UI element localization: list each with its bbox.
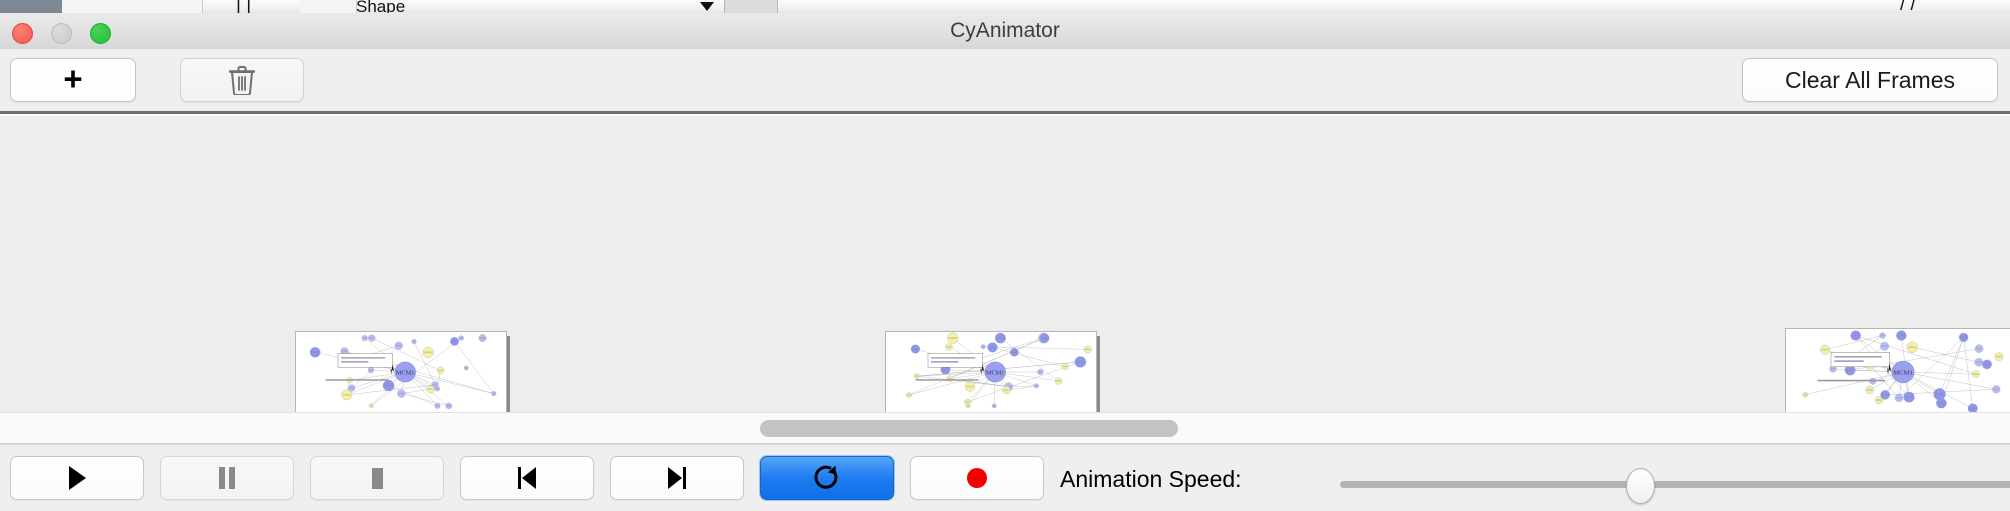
skip-back-button[interactable] <box>460 456 594 500</box>
add-frame-button[interactable]: + <box>10 58 136 102</box>
cyanimator-window: | | Shape / / CyAnimator + Clear All Fra… <box>0 0 2010 510</box>
maximize-button[interactable] <box>90 23 111 44</box>
background-window-glyph: / / <box>1900 0 1916 14</box>
network-thumbnail-graphic: MCM1 <box>1786 329 2010 412</box>
frame-thumbnail-2[interactable]: MCM1 <box>885 331 1095 411</box>
pause-button <box>160 456 294 500</box>
background-window-sidebar <box>0 0 62 13</box>
background-window-segment <box>300 0 357 13</box>
toolbar: + Clear All Frames <box>0 49 2010 111</box>
frame-thumbnail-3[interactable]: MCM1 <box>1785 328 2010 412</box>
animation-speed-label: Animation Speed: <box>1060 466 1242 493</box>
delete-frame-button[interactable] <box>180 58 304 102</box>
skip-back-icon <box>513 464 541 492</box>
stop-icon <box>364 464 390 492</box>
background-window-caret-icon <box>700 2 714 11</box>
record-icon <box>963 464 991 492</box>
background-window-strip: | | Shape / / <box>0 0 2010 14</box>
traffic-lights <box>12 23 111 44</box>
background-window-glyph: | | <box>236 0 251 14</box>
timeline-panel[interactable]: MCM1MCM1MCM1 2131415161718 Seconds <box>0 116 2010 412</box>
background-window-segment <box>152 0 203 13</box>
loop-icon <box>813 464 841 492</box>
close-button[interactable] <box>12 23 33 44</box>
svg-text:MCM1: MCM1 <box>1893 370 1913 377</box>
clear-all-frames-button[interactable]: Clear All Frames <box>1742 58 1998 102</box>
network-thumbnail-graphic: MCM1 <box>296 332 506 412</box>
svg-text:MCM1: MCM1 <box>396 370 415 377</box>
minimize-button[interactable] <box>51 23 72 44</box>
svg-text:MCM1: MCM1 <box>986 370 1005 377</box>
title-bar: CyAnimator <box>0 13 2010 50</box>
window-title: CyAnimator <box>0 13 2010 49</box>
play-icon <box>64 464 90 492</box>
loop-button[interactable] <box>760 456 894 500</box>
network-thumbnail-graphic: MCM1 <box>886 332 1096 412</box>
plus-icon: + <box>63 62 82 95</box>
skip-forward-button[interactable] <box>610 456 744 500</box>
background-window-title: Shape <box>356 0 405 14</box>
stop-button <box>310 456 444 500</box>
background-window-segment <box>62 0 153 13</box>
record-button[interactable] <box>910 456 1044 500</box>
animation-speed-slider-thumb[interactable] <box>1626 468 1655 504</box>
skip-forward-icon <box>663 464 691 492</box>
horizontal-scrollbar[interactable] <box>0 412 2010 444</box>
trash-icon <box>229 65 255 95</box>
frame-card: MCM1 <box>1785 328 2010 412</box>
transport-bar <box>0 444 2010 511</box>
frame-card: MCM1 <box>295 331 507 412</box>
scrollbar-thumb[interactable] <box>760 420 1178 437</box>
frame-thumbnail-1[interactable]: MCM1 <box>295 331 505 411</box>
play-button[interactable] <box>10 456 144 500</box>
pause-icon <box>214 464 240 492</box>
background-window-tab <box>724 0 778 13</box>
frame-card: MCM1 <box>885 331 1097 412</box>
animation-speed-slider[interactable] <box>1340 481 2010 488</box>
